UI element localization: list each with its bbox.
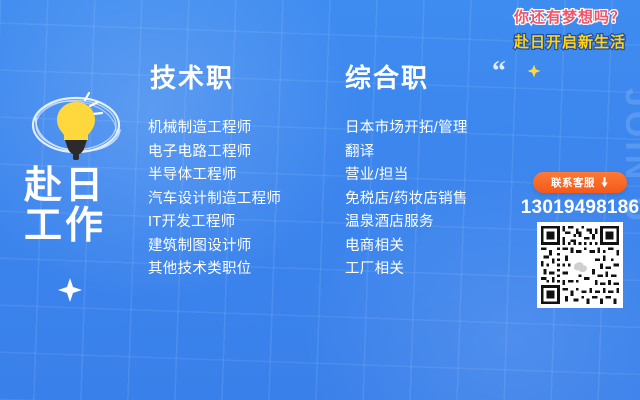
headline-line-2: 赴日开启新生活: [514, 31, 626, 52]
list-item: 日本市场开拓/管理: [345, 117, 468, 141]
list-item: 工厂相关: [345, 258, 468, 282]
brand-title-line-2: 工作: [24, 206, 128, 246]
list-item: 电商相关: [345, 235, 468, 259]
lightbulb-badge: [24, 78, 128, 170]
headline-line-1: 你还有梦想吗？: [514, 6, 626, 27]
column-title-technical: 技术职: [150, 58, 281, 95]
list-item: 汽车设计制造工程师: [148, 188, 281, 212]
job-category-general: 综合职 日本市场开拓/管理 翻译 营业/担当 免税店/药妆店销售 温泉酒店服务 …: [345, 58, 468, 282]
lightbulb-icon: [24, 78, 128, 170]
brand-title-line-1: 赴日: [24, 166, 128, 206]
list-item: 免税店/药妆店销售: [345, 188, 468, 212]
qr-code-image: [541, 226, 619, 304]
job-list-general: 日本市场开拓/管理 翻译 营业/担当 免税店/药妆店销售 温泉酒店服务 电商相关…: [345, 117, 468, 282]
list-item: 温泉酒店服务: [345, 211, 468, 235]
headline: 你还有梦想吗？ 赴日开启新生活: [514, 6, 626, 52]
sparkle-star-icon-yellow: [527, 64, 541, 78]
contact-support-button[interactable]: 联系客服: [533, 172, 627, 193]
qr-code[interactable]: [537, 222, 623, 308]
quote-mark-icon: “: [492, 58, 505, 86]
contact-phone-number: 13019498186: [520, 197, 640, 219]
arrow-down-icon: [600, 177, 609, 188]
job-category-technical: 技术职 机械制造工程师 电子电路工程师 半导体工程师 汽车设计制造工程师 IT开…: [148, 58, 281, 282]
column-title-general: 综合职: [345, 58, 468, 95]
list-item: 建筑制图设计师: [148, 235, 281, 259]
contact-support-label: 联系客服: [551, 175, 595, 190]
brand-title: 赴日 工作: [24, 166, 128, 247]
list-item: 半导体工程师: [148, 164, 281, 188]
job-list-technical: 机械制造工程师 电子电路工程师 半导体工程师 汽车设计制造工程师 IT开发工程师…: [148, 117, 281, 282]
list-item: 机械制造工程师: [148, 117, 281, 141]
job-recruitment-banner: JOIN U 你还有梦想吗？ 赴日开启新生活 “: [0, 0, 640, 400]
list-item: 翻译: [345, 141, 468, 165]
list-item: 营业/担当: [345, 164, 468, 188]
list-item: 其他技术类职位: [148, 258, 281, 282]
list-item: 电子电路工程师: [148, 141, 281, 165]
sparkle-star-icon-white: [58, 278, 82, 302]
list-item: IT开发工程师: [148, 211, 281, 235]
